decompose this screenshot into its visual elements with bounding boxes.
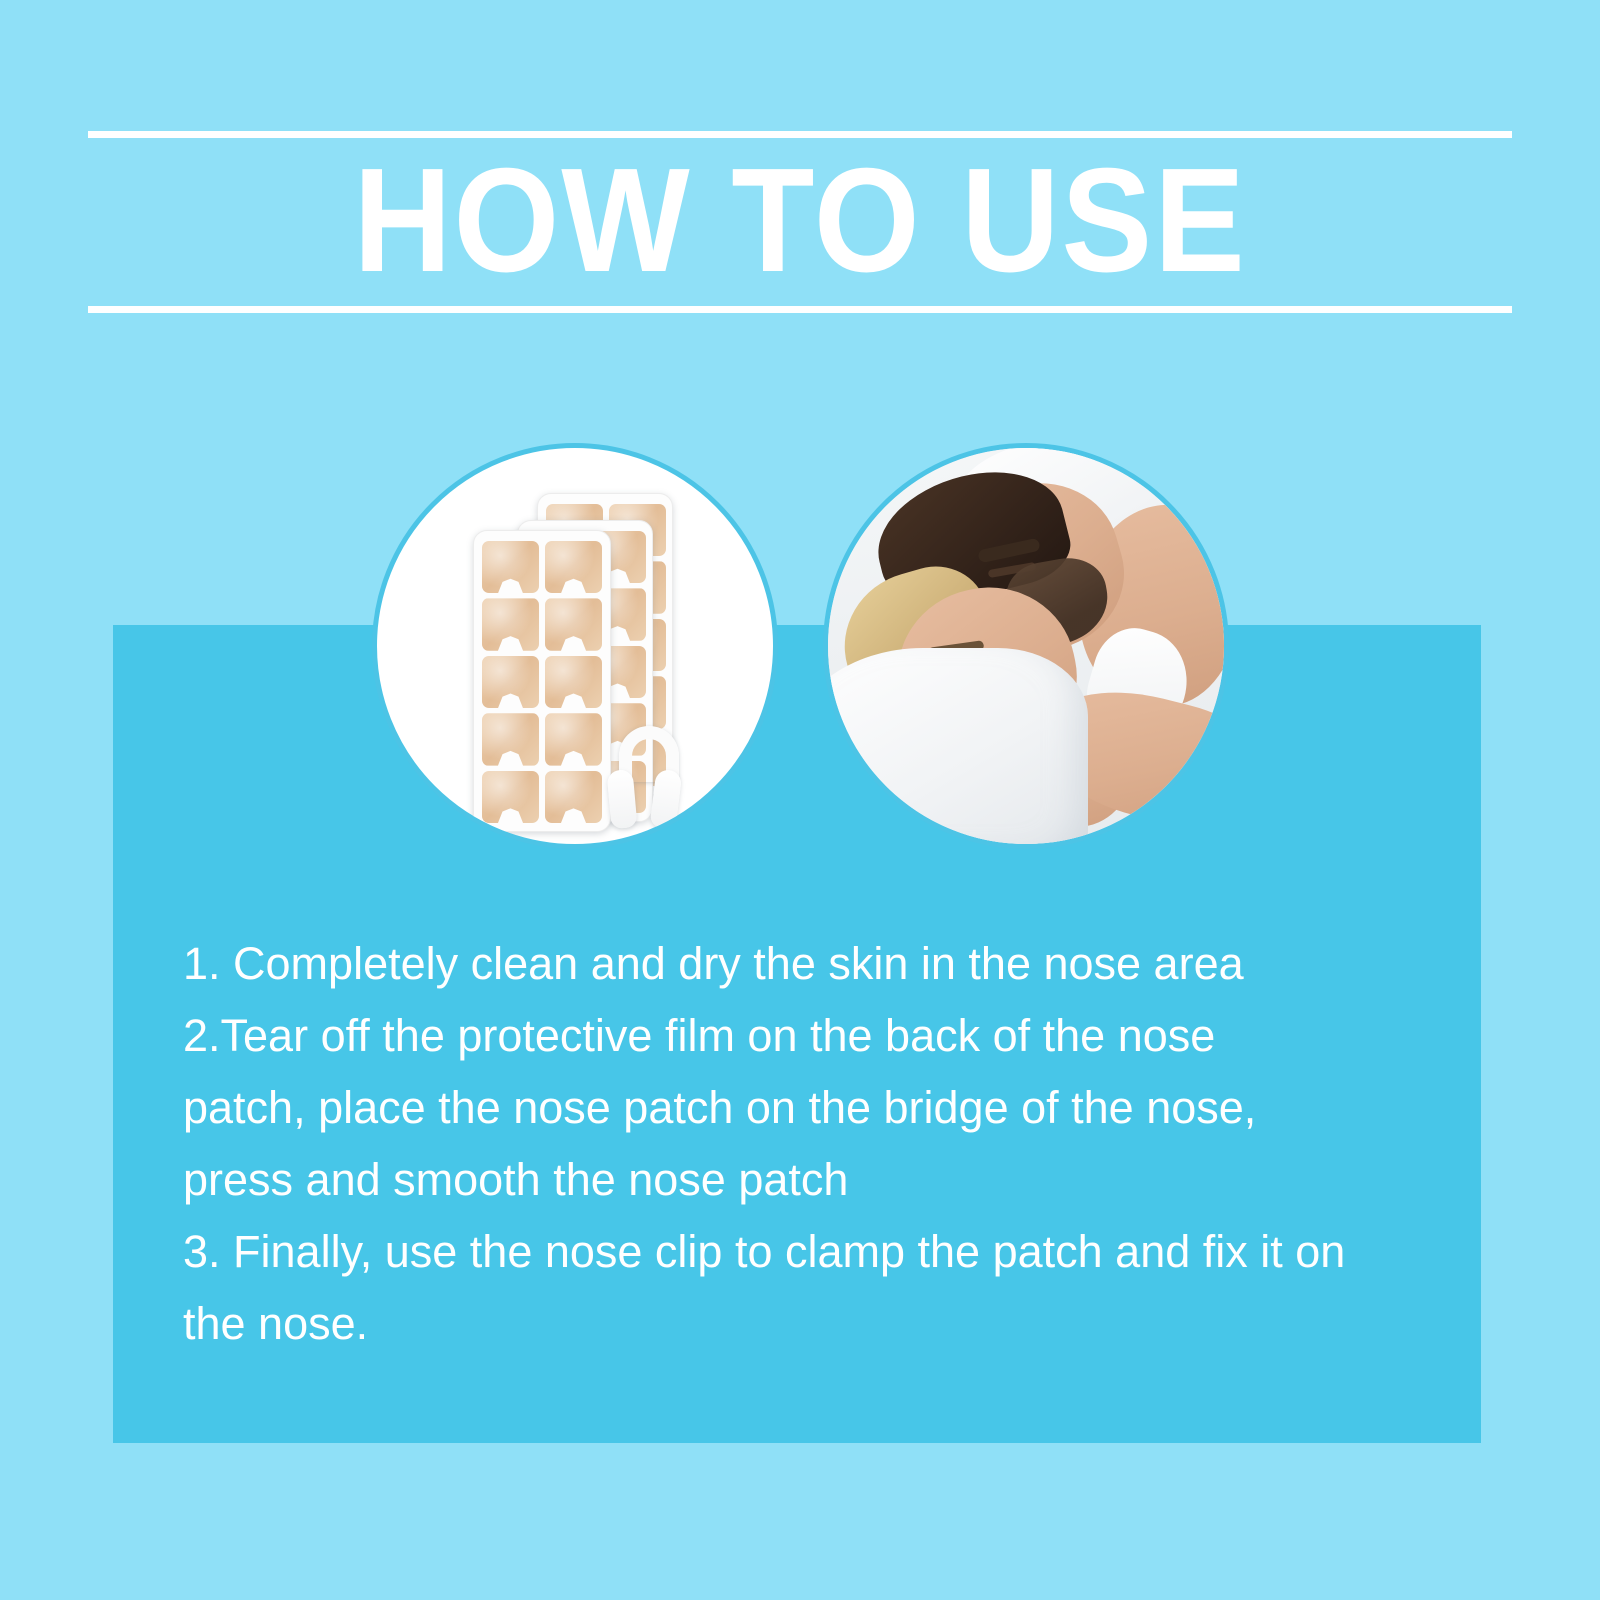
nose-patch xyxy=(482,598,539,650)
page-title: HOW TO USE xyxy=(64,146,1536,296)
instruction-line: 1. Completely clean and dry the skin in … xyxy=(183,928,1413,1000)
title-rule-top xyxy=(88,131,1512,138)
nose-patch xyxy=(482,771,539,823)
infographic-canvas: HOW TO USE xyxy=(0,0,1600,1600)
nose-patch xyxy=(545,541,602,593)
nose-patch xyxy=(545,771,602,823)
instruction-line: 2.Tear off the protective film on the ba… xyxy=(183,1000,1413,1072)
title-rule-bottom xyxy=(88,306,1512,313)
instruction-line: press and smooth the nose patch xyxy=(183,1144,1413,1216)
sleeping-couple-icon xyxy=(828,448,1224,844)
nose-patch xyxy=(545,656,602,708)
instruction-line: 3. Finally, use the nose clip to clamp t… xyxy=(183,1216,1413,1288)
nose-patch xyxy=(482,713,539,765)
nose-patch-sheets-icon xyxy=(377,448,773,844)
nose-clip-icon xyxy=(605,726,691,826)
nose-patch xyxy=(545,713,602,765)
nose-patch xyxy=(545,598,602,650)
instructions-block: 1. Completely clean and dry the skin in … xyxy=(183,928,1413,1360)
nose-clip-pad-left xyxy=(607,769,638,829)
instruction-line: the nose. xyxy=(183,1288,1413,1360)
patch-sheet-front xyxy=(473,530,611,832)
nose-patch xyxy=(482,541,539,593)
lifestyle-photo-circle xyxy=(823,443,1229,849)
product-image-circle xyxy=(372,443,778,849)
nose-patch xyxy=(482,656,539,708)
pillow-front xyxy=(823,648,1088,849)
instruction-line: patch, place the nose patch on the bridg… xyxy=(183,1072,1413,1144)
patch-grid-front xyxy=(482,541,602,823)
